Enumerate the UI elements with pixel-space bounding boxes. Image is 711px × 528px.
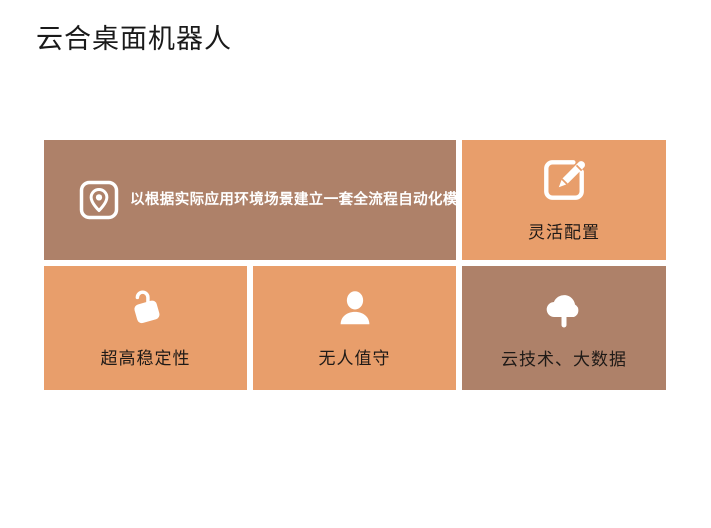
page-title: 云合桌面机器人: [36, 20, 232, 60]
feature-tile-label: 以根据实际应用环境场景建立一套全流程自动化模拟操作: [130, 188, 462, 212]
feature-tile-label: 灵活配置: [528, 221, 600, 245]
feature-tile-stability[interactable]: 超高稳定性: [44, 266, 253, 390]
tile-face: 无人值守: [253, 266, 456, 390]
map-pin-icon: [78, 179, 120, 221]
feature-tile-grid: 以根据实际应用环境场景建立一套全流程自动化模拟操作 灵活配置: [44, 140, 666, 396]
edit-square-icon: [539, 155, 589, 205]
feature-tile-label: 超高稳定性: [101, 347, 191, 371]
tile-face: 超高稳定性: [44, 266, 247, 390]
feature-tile-label: 云技术、大数据: [501, 348, 627, 372]
feature-tile-cloud-bigdata[interactable]: 云技术、大数据: [462, 266, 666, 390]
cloud-upload-icon: [540, 284, 588, 332]
user-icon: [332, 285, 378, 331]
feature-tile-scenario[interactable]: 以根据实际应用环境场景建立一套全流程自动化模拟操作: [44, 140, 462, 266]
tile-face: 灵活配置: [462, 140, 666, 260]
tag-icon: [123, 285, 169, 331]
feature-tile-flexible-config[interactable]: 灵活配置: [462, 140, 666, 266]
tile-face: 以根据实际应用环境场景建立一套全流程自动化模拟操作: [44, 140, 456, 260]
feature-tile-label: 无人值守: [319, 347, 391, 371]
tile-face: 云技术、大数据: [462, 266, 666, 390]
feature-tile-unattended[interactable]: 无人值守: [253, 266, 462, 390]
slide-canvas: 云合桌面机器人 以根据实际应用环境场景建立一套全流程自动化模拟操作: [0, 0, 711, 528]
